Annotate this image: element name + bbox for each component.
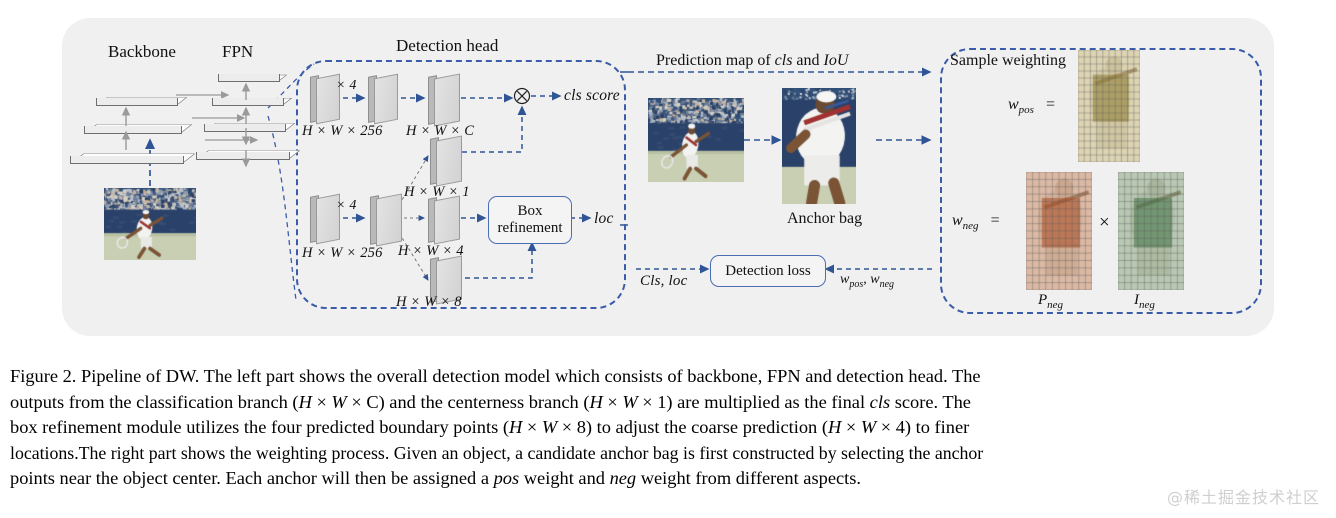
cls-loc-label: Cls, loc <box>640 273 687 290</box>
i-neg-heatmap <box>1118 172 1184 290</box>
fpn-title: FPN <box>222 42 253 62</box>
w-pos-equals: = <box>1046 96 1055 113</box>
cls-conv-shape-label: H × W × 256 <box>302 123 383 140</box>
input-image-thumbnail <box>104 188 196 260</box>
sample-weighting-title: Sample weighting <box>950 52 1066 70</box>
fpn-plane-3 <box>204 110 284 132</box>
prediction-map-cls: cls <box>775 52 793 69</box>
cls-score-label: cls score <box>564 87 620 105</box>
centerness-feature-map <box>430 138 454 182</box>
box-refinement-line1: Box <box>517 203 542 220</box>
reg-conv-shape-label: H × W × 256 <box>302 245 383 262</box>
figure-page: Backbone FPN Detection head Sample weigh… <box>0 0 1336 518</box>
prediction-map-text-b: and <box>792 52 823 69</box>
caption-line-1: outputs from the classification branch (… <box>10 390 1330 416</box>
points-shape-label: H × W × 8 <box>396 294 462 311</box>
cls-conv-feature-map <box>310 76 332 120</box>
reg-repeat-label: × 4 <box>336 198 357 214</box>
caption-line-3: locations.The right part shows the weigh… <box>10 441 1330 467</box>
cls-output-feature-map <box>428 76 452 122</box>
w-pos-label: wpos = <box>1008 96 1055 116</box>
backbone-title: Backbone <box>108 42 176 62</box>
cls-conv-feature-map-2 <box>368 76 390 120</box>
detection-loss-box[interactable]: Detection loss <box>710 255 826 287</box>
p-neg-caption: Pneg <box>1038 292 1063 311</box>
prediction-map-text-a: Prediction map of <box>656 52 775 69</box>
i-neg-caption: Ineg <box>1134 292 1155 311</box>
figure-caption: Figure 2. Pipeline of DW. The left part … <box>10 364 1330 492</box>
weights-label: wpos, wneg <box>840 272 894 290</box>
anchor-bag-label: Anchor bag <box>787 210 862 228</box>
times-symbol: × <box>1099 212 1110 234</box>
caption-line-2: box refinement module utilizes the four … <box>10 415 1330 441</box>
backbone-plane-top <box>96 84 176 106</box>
prediction-map-iou: IoU <box>824 52 849 69</box>
p-neg-heatmap <box>1026 172 1092 290</box>
backbone-plane-bottom <box>70 138 182 164</box>
loc-label: loc <box>594 210 614 228</box>
detection-head-title: Detection head <box>396 36 498 56</box>
cls-repeat-label: × 4 <box>336 78 357 94</box>
box-refinement-box[interactable]: Box refinement <box>488 196 572 244</box>
caption-line-0: Figure 2. Pipeline of DW. The left part … <box>10 364 1330 390</box>
prediction-map-label: Prediction map of cls and IoU <box>656 52 848 70</box>
reg-conv-feature-map <box>310 196 332 240</box>
caption-line-4: points near the object center. Each anch… <box>10 466 1330 492</box>
w-pos-heatmap <box>1078 50 1140 162</box>
anchor-bag-image <box>782 88 856 204</box>
fpn-plane-4 <box>196 136 288 160</box>
box-feature-map <box>428 198 452 240</box>
box-refinement-line2: refinement <box>498 220 563 237</box>
fpn-plane-2 <box>212 86 282 106</box>
reg-conv-feature-map-2 <box>370 196 394 242</box>
w-neg-equals: = <box>991 212 1000 229</box>
prediction-map-image <box>648 98 744 182</box>
watermark: @稀土掘金技术社区 <box>1167 484 1320 508</box>
fpn-plane-1 <box>218 64 278 82</box>
backbone-plane-mid <box>84 110 180 134</box>
w-neg-label: wneg = <box>952 212 1000 232</box>
